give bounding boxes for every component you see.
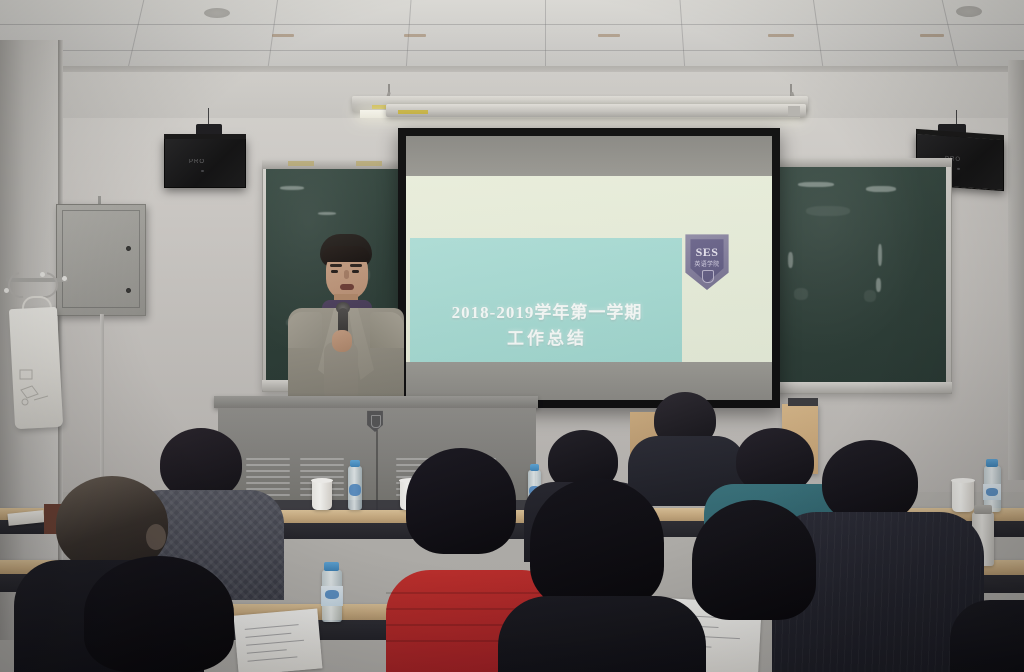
presenter-nose [344, 270, 349, 279]
bottle-label-accent [325, 590, 339, 599]
speaker-brand-label: PRO [189, 159, 205, 165]
handout-document[interactable] [234, 608, 323, 672]
flask-cap [974, 505, 992, 514]
attendee-head-bob [692, 500, 816, 620]
paper-cup[interactable] [312, 480, 332, 510]
bottle-cap [324, 562, 339, 571]
attendee-ear [146, 524, 166, 550]
projection-screen-housing[interactable] [386, 104, 806, 117]
attendee-body [950, 600, 1024, 672]
blackboard-clip [356, 161, 382, 166]
cup-rim [951, 478, 975, 483]
paper-cup[interactable] [952, 480, 974, 512]
panel-screw [126, 246, 131, 251]
hook-tip [4, 288, 9, 293]
logo-chinese-name: 英语学院 [689, 259, 725, 268]
bottle-cap [986, 459, 998, 467]
presenter-shoulder-left [288, 312, 322, 348]
right-chalk-tray [768, 382, 952, 393]
wall-conduit-pipe [100, 314, 104, 494]
slide-title-line-2: 工作总结 [412, 324, 682, 349]
panel-door [62, 210, 140, 308]
attendee-head-long-hair [530, 478, 664, 608]
attendee-body [498, 596, 706, 672]
blackboard-top-rail [262, 160, 416, 169]
logo-acronym: SES [689, 245, 725, 260]
hook-tip [62, 276, 67, 281]
screen-bottom-margin [406, 362, 772, 400]
ses-shield-logo: SES 英语学院 [684, 232, 730, 290]
slide-title-line-1: 2018-2019学年第一学期 [412, 298, 682, 323]
presenter-hand [332, 330, 352, 352]
ceiling-vent-icon [956, 6, 982, 17]
housing-label [398, 110, 428, 114]
panel-screw [126, 288, 131, 293]
bottle-label [349, 484, 361, 496]
blackboard-clip [288, 161, 314, 166]
attendee-head-long-hair [406, 448, 516, 554]
blackboard-top-rail [768, 158, 952, 167]
cup-rim [311, 478, 333, 483]
presenter-shoulder-right [370, 312, 404, 348]
attendee-head-long-hair [84, 556, 234, 672]
screen-top-margin [406, 136, 772, 176]
bag-print-icon [18, 368, 52, 410]
right-blackboard [772, 166, 946, 384]
podium-top [214, 396, 538, 408]
bottle-cap [530, 464, 539, 471]
ceiling-vent-icon [204, 8, 230, 18]
lecture-hall-photo: PRO PRO [0, 0, 1024, 672]
lectern-top [788, 398, 818, 406]
bottle-cap [350, 460, 360, 467]
speaker-top-panel [164, 134, 246, 139]
ceiling-grid [0, 0, 1024, 72]
presenter [286, 234, 404, 402]
right-wall-corner [1008, 60, 1024, 480]
presenter-hair-front [322, 246, 370, 262]
wall-speaker-left: PRO [164, 138, 246, 188]
bottle-label-accent [986, 488, 998, 496]
podium-crest-icon [366, 410, 384, 432]
housing-end-cap [788, 106, 800, 116]
logo-crest-mark [702, 270, 714, 283]
hook-tip [40, 272, 45, 277]
presenter-mouth [340, 284, 354, 290]
